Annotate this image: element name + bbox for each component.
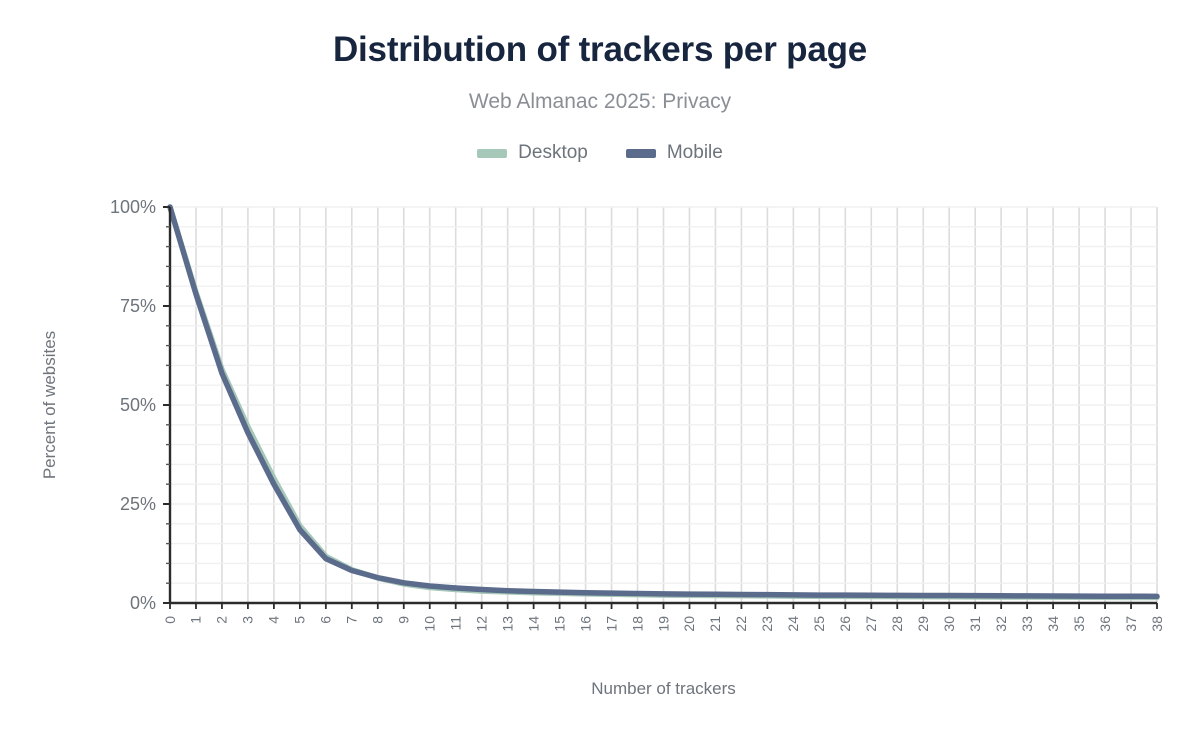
x-axis-tick-label: 28 [889, 616, 905, 632]
x-axis-tick-label: 0 [162, 616, 178, 624]
y-axis-tick-label: 25% [120, 494, 156, 514]
y-axis-tick-label: 100% [110, 197, 156, 217]
x-axis-tick-label: 16 [577, 616, 593, 632]
x-axis-tick-label: 17 [603, 616, 619, 632]
y-axis-tick-label: 50% [120, 395, 156, 415]
x-axis-tick-label: 35 [1071, 616, 1087, 632]
chart-container: Distribution of trackers per page Web Al… [0, 0, 1200, 742]
x-axis-tick-label: 23 [759, 616, 775, 632]
x-axis-title: Number of trackers [591, 679, 736, 698]
x-axis-tick-label: 30 [941, 616, 957, 632]
x-axis-tick-label: 19 [655, 616, 671, 632]
x-axis-tick-label: 12 [473, 616, 489, 632]
x-axis-tick-label: 22 [733, 616, 749, 632]
x-axis-tick-label: 20 [681, 616, 697, 632]
x-axis-tick-label: 9 [396, 616, 412, 624]
y-axis-tick-label: 0% [130, 593, 156, 613]
x-axis-tick-label: 37 [1123, 616, 1139, 632]
x-axis-tick-label: 32 [993, 616, 1009, 632]
x-axis-tick-label: 38 [1149, 616, 1165, 632]
x-axis-tick-label: 21 [707, 616, 723, 632]
x-axis-tick-label: 34 [1045, 616, 1061, 632]
x-axis-tick-label: 36 [1097, 616, 1113, 632]
x-axis-tick-label: 33 [1019, 616, 1035, 632]
plot-area: 0%25%50%75%100%0123456789101112131415161… [0, 0, 1200, 742]
x-axis-tick-label: 31 [967, 616, 983, 632]
x-axis-tick-label: 1 [188, 616, 204, 624]
y-axis-title: Percent of websites [40, 331, 59, 479]
x-axis-tick-label: 27 [863, 616, 879, 632]
x-axis-tick-label: 26 [837, 616, 853, 632]
x-axis-tick-label: 3 [240, 616, 256, 624]
x-axis-tick-label: 8 [370, 616, 386, 624]
x-axis-tick-label: 10 [422, 616, 438, 632]
x-axis-tick-label: 7 [344, 616, 360, 624]
x-axis-tick-label: 18 [629, 616, 645, 632]
x-axis-tick-label: 6 [318, 616, 334, 624]
x-axis-tick-label: 14 [525, 616, 541, 632]
x-axis-tick-label: 5 [292, 616, 308, 624]
x-axis-tick-label: 25 [811, 616, 827, 632]
x-axis-tick-label: 11 [447, 616, 463, 631]
x-axis-tick-label: 13 [499, 616, 515, 632]
x-axis-tick-label: 4 [266, 616, 282, 624]
x-axis-tick-label: 15 [551, 616, 567, 632]
x-axis-tick-label: 24 [785, 616, 801, 632]
x-axis-tick-label: 2 [214, 616, 230, 624]
x-axis-tick-label: 29 [915, 616, 931, 632]
y-axis-tick-label: 75% [120, 296, 156, 316]
